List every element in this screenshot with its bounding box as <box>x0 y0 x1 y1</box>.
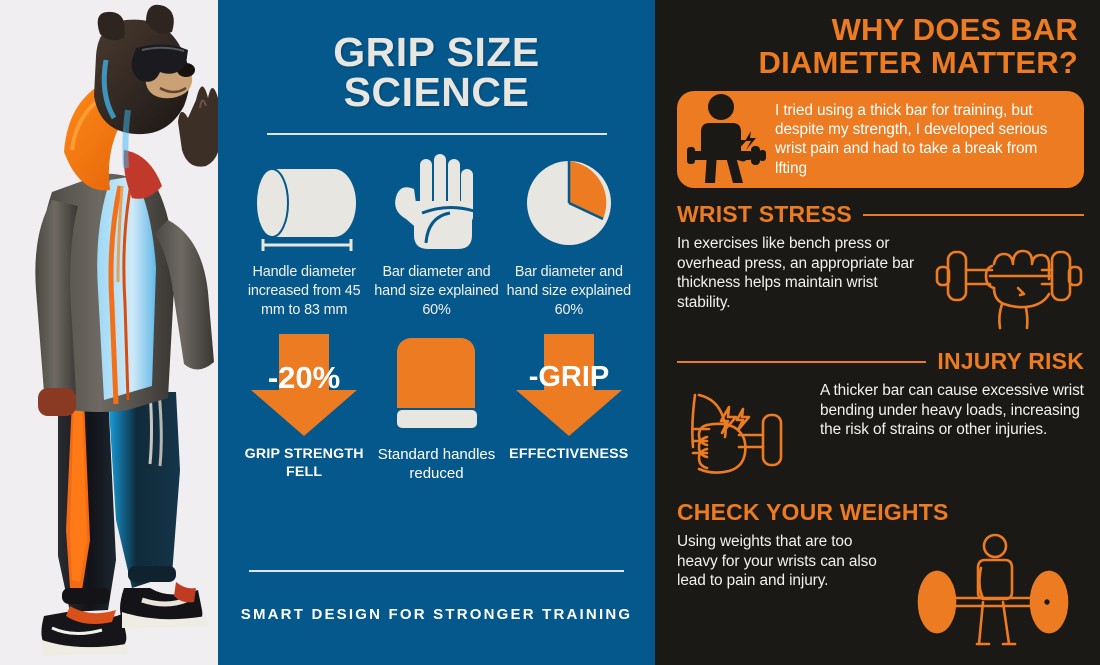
stat-label: Standard handles reduced <box>372 446 500 484</box>
stat-caption: Bar diameter and hand size explained 60% <box>505 263 633 320</box>
section-body: In exercises like bench press or overhea… <box>677 234 1084 335</box>
section-title: INJURY RISK <box>937 348 1084 375</box>
arrow-value: -GRIP <box>529 361 610 393</box>
bent-wrist-dumbbell-icon <box>677 381 812 486</box>
title-divider <box>267 133 607 135</box>
section-header: INJURY RISK <box>677 348 1084 375</box>
page-title: GRIP SIZE SCIENCE <box>333 32 540 112</box>
section-body: Using weights that are too heavy for you… <box>677 532 1084 655</box>
section-text: A thicker bar can cause excessive wrist … <box>820 381 1084 440</box>
hand-gripping-dumbbell-icon <box>934 234 1084 335</box>
section-text: Using weights that are too heavy for you… <box>677 532 891 591</box>
open-hand-icon <box>384 151 488 255</box>
person-lifting-bar-icon <box>685 91 769 188</box>
standard-handle-icon <box>381 334 491 444</box>
section-wrist-stress: WRIST STRESS In exercises like bench pre… <box>677 201 1084 335</box>
section-rule <box>863 214 1084 216</box>
down-arrow-icon: -20% <box>243 334 365 444</box>
stat-caption: Bar diameter and hand size explained 60% <box>372 263 500 320</box>
tagline-divider <box>249 570 624 572</box>
right-title-line2: DIAMETER MATTER? <box>677 47 1078 80</box>
bear-mascot-illustration <box>0 0 218 665</box>
section-header: WRIST STRESS <box>677 201 1084 228</box>
tagline-block: SMART DESIGN FOR STRONGER TRAINING <box>240 570 633 649</box>
center-blue-panel: GRIP SIZE SCIENCE Handle diameter increa… <box>218 0 655 665</box>
stat-cell-standard-handles: Standard handles reduced <box>372 334 500 484</box>
stat-cell-effectiveness: -GRIP EFFECTIVENESS <box>505 334 633 484</box>
page-title-line1: GRIP SIZE <box>333 32 540 72</box>
stat-cell-pie: Bar diameter and hand size explained 60% <box>505 151 633 320</box>
right-dark-panel: WHY DOES BAR DIAMETER MATTER? <box>655 0 1100 665</box>
cylinder-handle-icon <box>244 151 364 255</box>
testimonial-text: I tried using a thick bar for training, … <box>775 101 1072 178</box>
page-title-line2: SCIENCE <box>333 72 540 112</box>
section-title: CHECK YOUR WEIGHTS <box>677 499 949 526</box>
testimonial-callout: I tried using a thick bar for training, … <box>677 91 1084 188</box>
stat-label: GRIP STRENGTH FELL <box>240 446 368 482</box>
right-panel-title: WHY DOES BAR DIAMETER MATTER? <box>677 14 1084 80</box>
section-body: A thicker bar can cause excessive wrist … <box>677 381 1084 486</box>
section-header: CHECK YOUR WEIGHTS <box>677 499 1084 526</box>
section-title: WRIST STRESS <box>677 201 852 228</box>
person-deadlift-barbell-icon <box>899 532 1084 655</box>
section-check-weights: CHECK YOUR WEIGHTS Using weights that ar… <box>677 499 1084 655</box>
right-title-line1: WHY DOES BAR <box>677 14 1078 47</box>
stat-caption: Handle diameter increased from 45 mm to … <box>240 263 368 320</box>
down-arrow-icon: -GRIP <box>508 334 630 444</box>
stat-cell-handle-diameter: Handle diameter increased from 45 mm to … <box>240 151 368 320</box>
mascot-panel <box>0 0 218 665</box>
pie-chart-icon <box>519 151 619 255</box>
stats-row-1: Handle diameter increased from 45 mm to … <box>240 151 633 320</box>
section-text: In exercises like bench press or overhea… <box>677 234 926 313</box>
section-rule <box>677 361 926 363</box>
infographic-root: GRIP SIZE SCIENCE Handle diameter increa… <box>0 0 1100 665</box>
stat-cell-grip-strength: -20% GRIP STRENGTH FELL <box>240 334 368 484</box>
tagline: SMART DESIGN FOR STRONGER TRAINING <box>241 606 632 623</box>
stat-cell-hand-size: Bar diameter and hand size explained 60% <box>372 151 500 320</box>
stats-row-2: -20% GRIP STRENGTH FELL Standard handles… <box>240 334 633 484</box>
arrow-value: -20% <box>268 360 340 395</box>
stat-label: EFFECTIVENESS <box>509 446 628 464</box>
section-injury-risk: INJURY RISK <box>677 348 1084 486</box>
